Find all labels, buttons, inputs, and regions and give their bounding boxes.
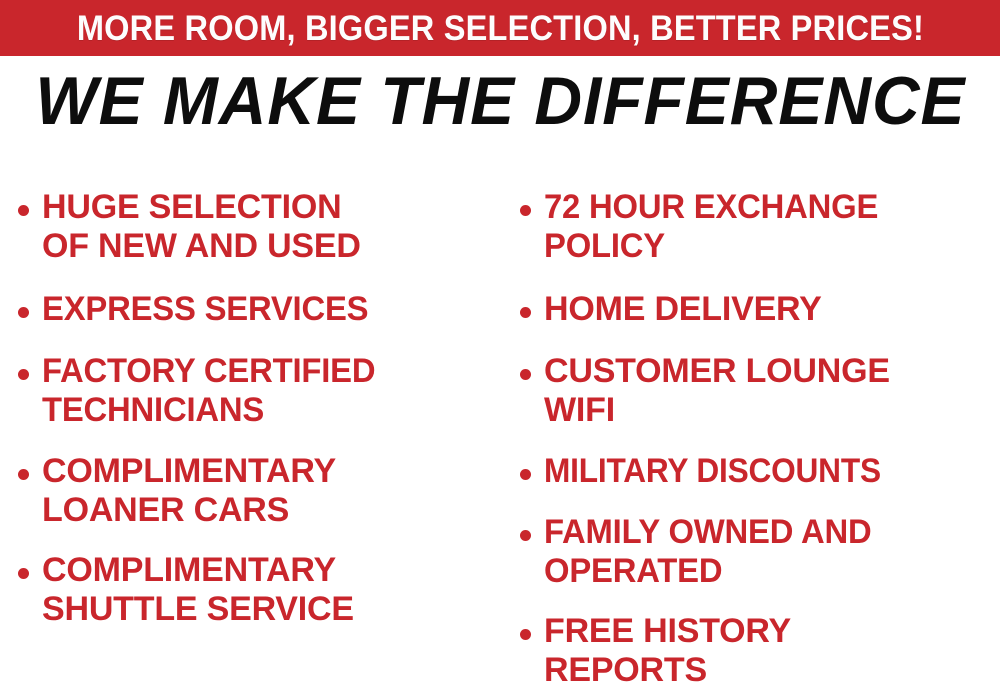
feature-label: COMPLIMENTARY LOANER CARS [42, 452, 336, 530]
banner-headline: MORE ROOM, BIGGER SELECTION, BETTER PRIC… [76, 11, 923, 46]
feature-left-5: COMPLIMENTARY SHUTTLE SERVICE [18, 551, 500, 629]
feature-right-5: FAMILY OWNED AND OPERATED [520, 513, 1000, 591]
feature-label: HOME DELIVERY [544, 290, 822, 329]
top-banner: MORE ROOM, BIGGER SELECTION, BETTER PRIC… [0, 0, 1000, 56]
feature-right-1: 72 HOUR EXCHANGE POLICY [520, 188, 1000, 266]
feature-right-2: HOME DELIVERY [520, 290, 1000, 329]
features-column-left: HUGE SELECTION OF NEW AND USEDEXPRESS SE… [0, 150, 500, 694]
feature-label: MILITARY DISCOUNTS [544, 452, 881, 491]
feature-label: 72 HOUR EXCHANGE POLICY [544, 188, 878, 266]
bullet-dot-icon [520, 307, 531, 318]
bullet-dot-icon [18, 469, 29, 480]
feature-left-2: EXPRESS SERVICES [18, 290, 500, 329]
bullet-dot-icon [520, 469, 531, 480]
feature-right-4: MILITARY DISCOUNTS [520, 452, 1000, 491]
feature-left-3: FACTORY CERTIFIED TECHNICIANS [18, 352, 500, 430]
feature-label: FACTORY CERTIFIED TECHNICIANS [42, 352, 375, 430]
bullet-dot-icon [18, 568, 29, 579]
feature-right-3: CUSTOMER LOUNGE WIFI [520, 352, 1000, 430]
promo-poster: MORE ROOM, BIGGER SELECTION, BETTER PRIC… [0, 0, 1000, 694]
feature-left-1: HUGE SELECTION OF NEW AND USED [18, 188, 500, 266]
bullet-dot-icon [18, 205, 29, 216]
feature-label: COMPLIMENTARY SHUTTLE SERVICE [42, 551, 354, 629]
bullet-dot-icon [18, 307, 29, 318]
headline-area: WE MAKE THE DIFFERENCE [0, 62, 1000, 140]
bullet-dot-icon [520, 369, 531, 380]
feature-right-6: FREE HISTORY REPORTS [520, 612, 1000, 690]
bullet-dot-icon [520, 629, 531, 640]
page-title: WE MAKE THE DIFFERENCE [35, 67, 965, 135]
features-columns: HUGE SELECTION OF NEW AND USEDEXPRESS SE… [0, 150, 1000, 694]
bullet-dot-icon [18, 369, 29, 380]
feature-label: CUSTOMER LOUNGE WIFI [544, 352, 890, 430]
bullet-dot-icon [520, 530, 531, 541]
feature-left-4: COMPLIMENTARY LOANER CARS [18, 452, 500, 530]
feature-label: HUGE SELECTION OF NEW AND USED [42, 188, 361, 266]
feature-label: FREE HISTORY REPORTS [544, 612, 791, 690]
feature-label: EXPRESS SERVICES [42, 290, 368, 329]
bullet-dot-icon [520, 205, 531, 216]
features-column-right: 72 HOUR EXCHANGE POLICYHOME DELIVERYCUST… [500, 150, 1000, 694]
feature-label: FAMILY OWNED AND OPERATED [544, 513, 871, 591]
